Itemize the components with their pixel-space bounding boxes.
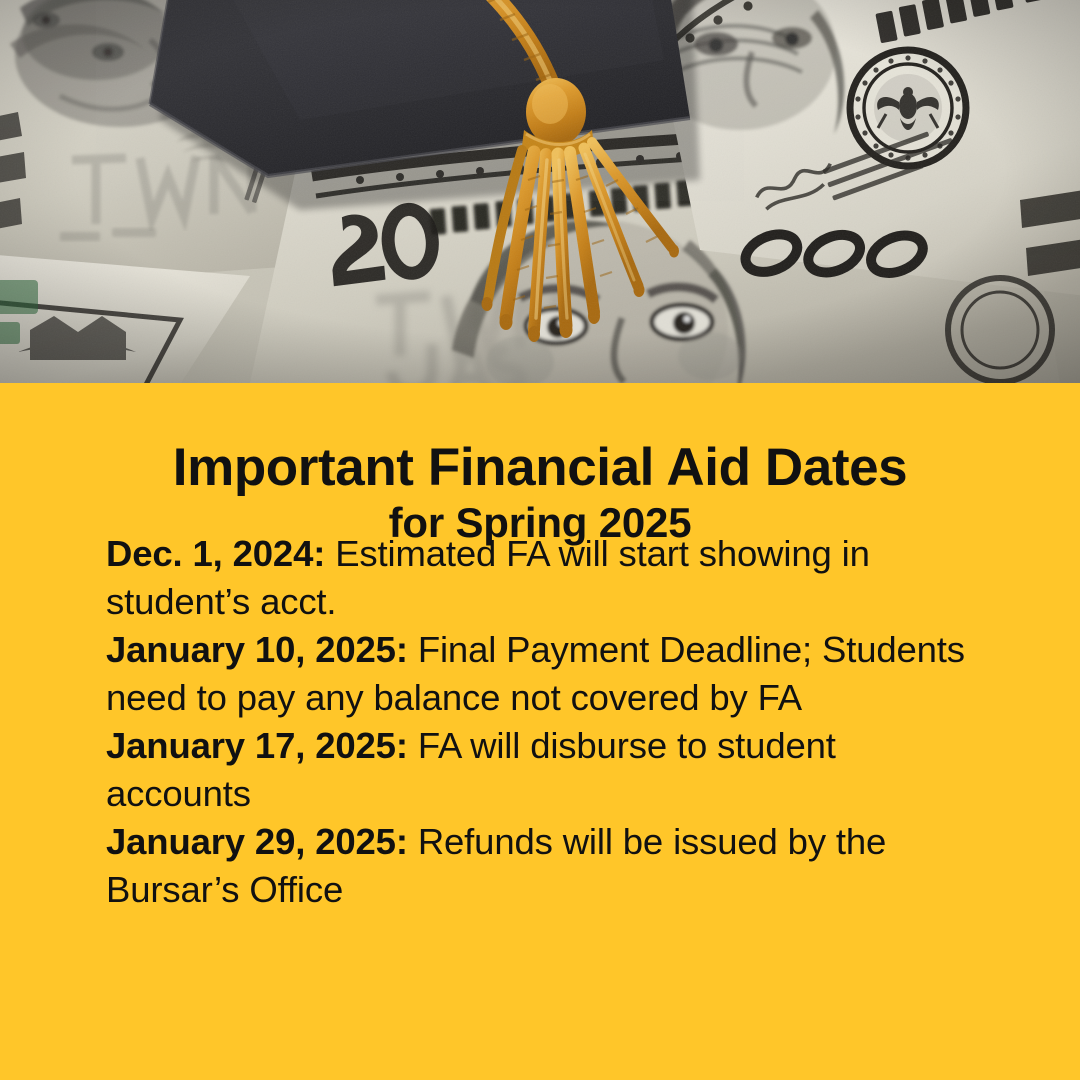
currency-graduation-photo [0,0,1080,383]
date-label: January 29, 2025: [106,821,408,862]
date-label: Dec. 1, 2024: [106,533,325,574]
content-panel: Important Financial Aid Dates for Spring… [0,383,1080,1080]
list-item: January 17, 2025: FA will disburse to st… [106,722,986,818]
photo-illustration [0,0,1080,383]
date-label: January 17, 2025: [106,725,408,766]
poster-canvas: Important Financial Aid Dates for Spring… [0,0,1080,1080]
list-item: Dec. 1, 2024: Estimated FA will start sh… [106,530,986,626]
list-item: January 10, 2025: Final Payment Deadline… [106,626,986,722]
list-item: January 29, 2025: Refunds will be issued… [106,818,986,914]
page-title: Important Financial Aid Dates [0,440,1080,495]
date-label: January 10, 2025: [106,629,408,670]
important-dates-list: Dec. 1, 2024: Estimated FA will start sh… [106,530,986,914]
